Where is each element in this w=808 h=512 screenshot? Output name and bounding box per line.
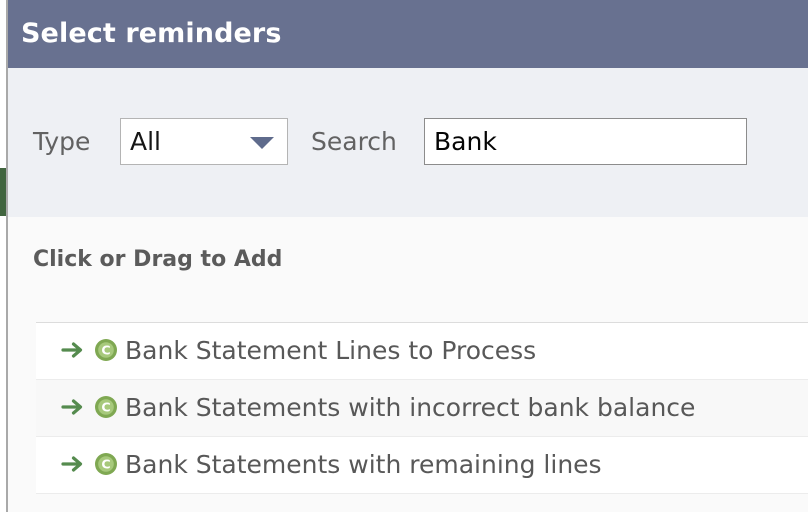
arrow-right-icon bbox=[60, 337, 86, 363]
list-item-partial[interactable] bbox=[36, 494, 808, 510]
reminder-list: C Bank Statement Lines to Process bbox=[36, 322, 808, 510]
search-label: Search bbox=[311, 118, 397, 165]
filter-row: Type All Search Bank bbox=[8, 118, 808, 174]
search-input-value: Bank bbox=[434, 119, 497, 164]
section-title: Click or Drag to Add bbox=[33, 247, 282, 272]
panel-edge-divider bbox=[6, 0, 8, 512]
list-item-label: Bank Statements with remaining lines bbox=[125, 450, 602, 480]
chevron-down-icon bbox=[250, 137, 274, 149]
dialog-title: Select reminders bbox=[21, 18, 282, 49]
reminder-picker-dialog: Select reminders Type All Search Bank Cl… bbox=[0, 0, 808, 512]
filter-bar: Type All Search Bank bbox=[8, 68, 808, 217]
list-item[interactable]: C Bank Statements with incorrect bank ba… bbox=[36, 380, 808, 437]
svg-text:C: C bbox=[101, 343, 110, 358]
c-badge-icon: C bbox=[94, 338, 118, 362]
list-item-label: Bank Statements with incorrect bank bala… bbox=[125, 393, 695, 423]
c-badge-icon: C bbox=[94, 452, 118, 476]
list-item[interactable]: C Bank Statements with remaining lines bbox=[36, 437, 808, 494]
type-select[interactable]: All bbox=[120, 118, 288, 165]
svg-text:C: C bbox=[101, 400, 110, 415]
c-badge-icon: C bbox=[94, 395, 118, 419]
dialog-body: Select reminders Type All Search Bank Cl… bbox=[8, 0, 808, 512]
search-input[interactable]: Bank bbox=[424, 118, 747, 165]
type-label: Type bbox=[33, 118, 90, 165]
list-item-label: Bank Statement Lines to Process bbox=[125, 336, 536, 366]
list-item[interactable]: C Bank Statement Lines to Process bbox=[36, 323, 808, 380]
left-green-marker bbox=[0, 168, 6, 216]
content-area: Click or Drag to Add C bbox=[8, 217, 808, 512]
dialog-header: Select reminders bbox=[8, 0, 808, 68]
svg-text:C: C bbox=[101, 457, 110, 472]
type-select-value: All bbox=[130, 119, 161, 164]
arrow-right-icon bbox=[60, 394, 86, 420]
arrow-right-icon bbox=[60, 451, 86, 477]
